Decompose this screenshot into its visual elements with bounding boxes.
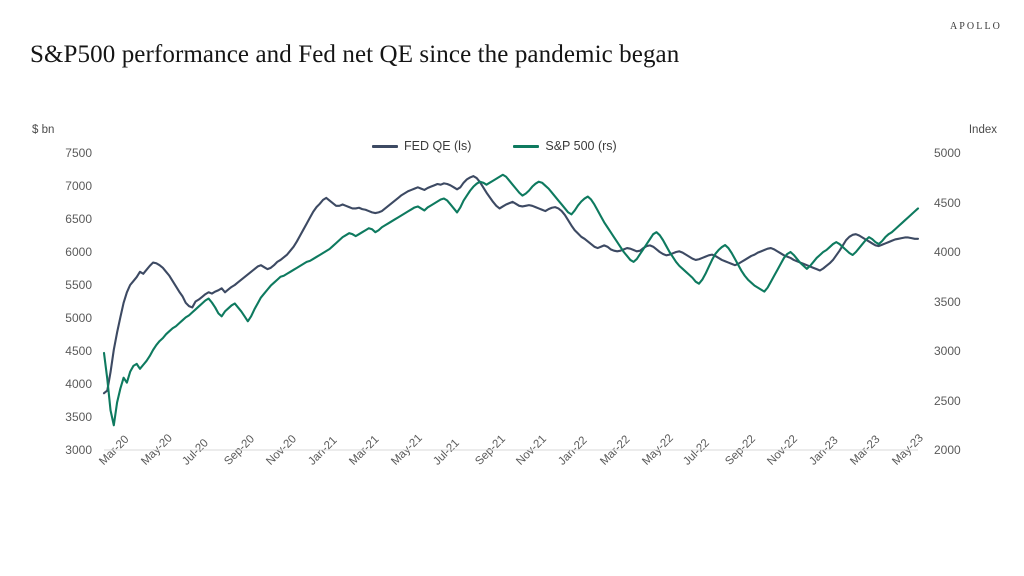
series-line-sp500 — [104, 175, 918, 425]
chart-plot — [0, 0, 1024, 576]
series-line-fed-qe — [104, 176, 918, 393]
chart-container: $ bn Index 30003500400045005000550060006… — [0, 0, 1024, 576]
slide-root: APOLLO S&P500 performance and Fed net QE… — [0, 0, 1024, 576]
